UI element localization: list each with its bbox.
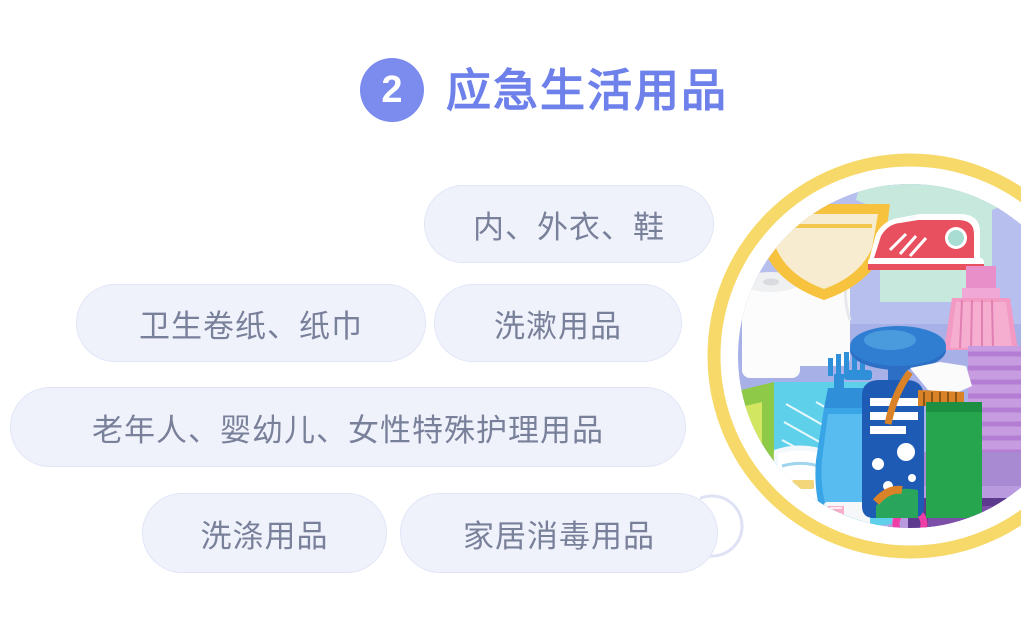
category-pill-label: 内、外衣、鞋 [473, 202, 665, 247]
category-pill-clothing-and-shoes[interactable]: 内、外衣、鞋 [424, 185, 714, 263]
poster-canvas: 2 应急生活用品 内、外衣、鞋 卫生卷纸、纸巾 洗漱用品 老年人、婴幼儿、女性特… [0, 0, 1021, 636]
category-pill-label: 卫生卷纸、纸巾 [139, 301, 363, 346]
category-pill-label: 家居消毒用品 [463, 511, 655, 556]
category-pill-label: 洗涤用品 [201, 511, 329, 556]
category-pill-detergents[interactable]: 洗涤用品 [142, 493, 387, 573]
section-number-badge: 2 [360, 58, 424, 122]
category-pill-toilet-paper-and-tissue[interactable]: 卫生卷纸、纸巾 [76, 284, 426, 362]
category-pill-home-disinfectants[interactable]: 家居消毒用品 [400, 493, 718, 573]
category-pill-toiletries[interactable]: 洗漱用品 [434, 284, 682, 362]
page-title: 应急生活用品 [446, 68, 728, 113]
category-pill-label: 洗漱用品 [494, 301, 622, 346]
section-header: 2 应急生活用品 [360, 58, 728, 122]
daily-necessities-illustration [700, 96, 1021, 636]
category-pill-special-care-products[interactable]: 老年人、婴幼儿、女性特殊护理用品 [10, 387, 686, 467]
category-pill-label: 老年人、婴幼儿、女性特殊护理用品 [92, 405, 604, 450]
